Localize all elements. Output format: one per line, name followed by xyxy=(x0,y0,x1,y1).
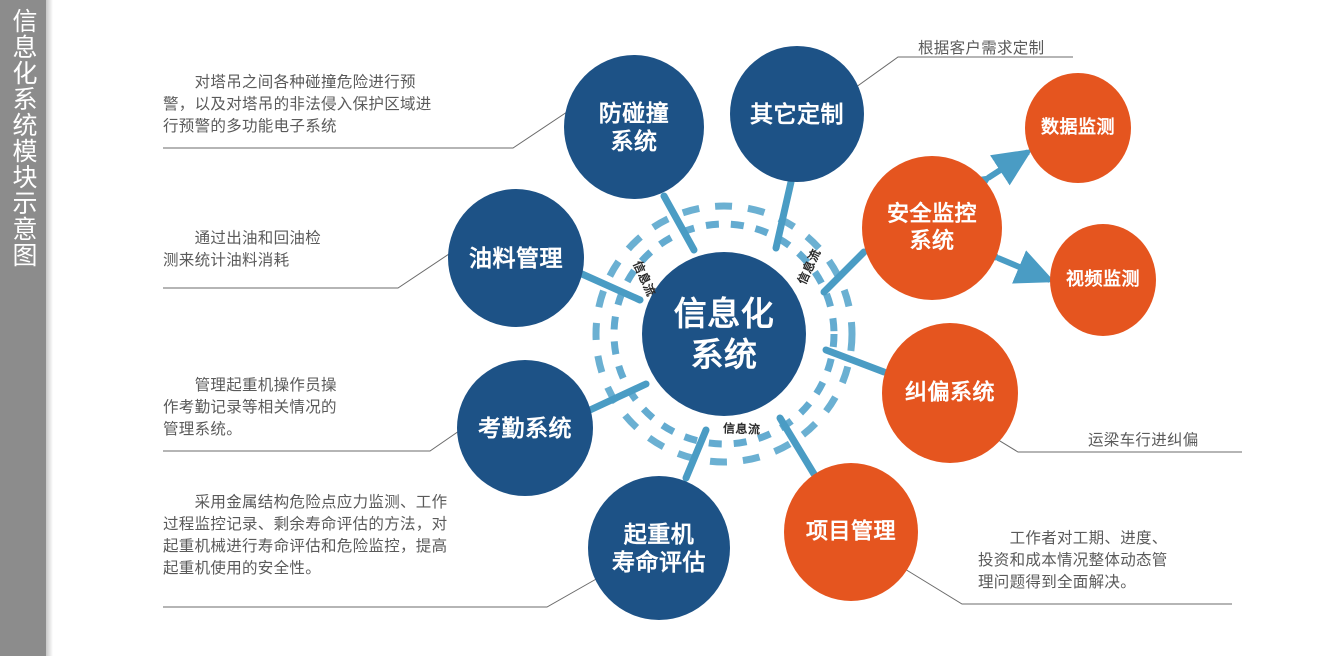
note-crane-life: 采用金属结构危险点应力监测、工作 过程监控记录、剩余寿命评估的方法，对 起重机械… xyxy=(163,492,563,580)
node-shape-fuel-mgmt[interactable] xyxy=(448,189,584,327)
note-other-custom: 根据客户需求定制 xyxy=(918,38,1088,60)
node-shape-anti-collision[interactable] xyxy=(564,55,704,199)
flow-label-bottom: 信息流 xyxy=(723,419,761,437)
note-fuel: 通过出油和回油检 测来统计油料消耗 xyxy=(163,228,413,272)
note-deviation: 运梁车行进纠偏 xyxy=(1088,430,1248,452)
node-shape-project-mgmt[interactable] xyxy=(784,463,918,601)
node-shape-deviation[interactable] xyxy=(882,323,1018,463)
node-shape-safety-monitor[interactable] xyxy=(862,156,1002,300)
center-node-shape[interactable] xyxy=(642,252,806,416)
node-shape-crane-life[interactable] xyxy=(588,476,730,620)
note-project: 工作者对工期、进度、 投资和成本情况整体动态管 理问题得到全面解决。 xyxy=(978,528,1258,594)
note-attendance: 管理起重机操作员操 作考勤记录等相关情况的 管理系统。 xyxy=(163,375,428,441)
node-shape-video-monitor[interactable] xyxy=(1050,224,1156,336)
note-anti-collision: 对塔吊之间各种碰撞危险进行预 警，以及对塔吊的非法侵入保护区域进 行预警的多功能… xyxy=(163,72,543,138)
node-shape-other-custom[interactable] xyxy=(730,46,864,182)
node-shape-attendance[interactable] xyxy=(457,360,593,496)
node-shape-data-monitor[interactable] xyxy=(1025,73,1131,183)
diagram-stage: 信息化系统模块示意图 xyxy=(0,0,1340,656)
